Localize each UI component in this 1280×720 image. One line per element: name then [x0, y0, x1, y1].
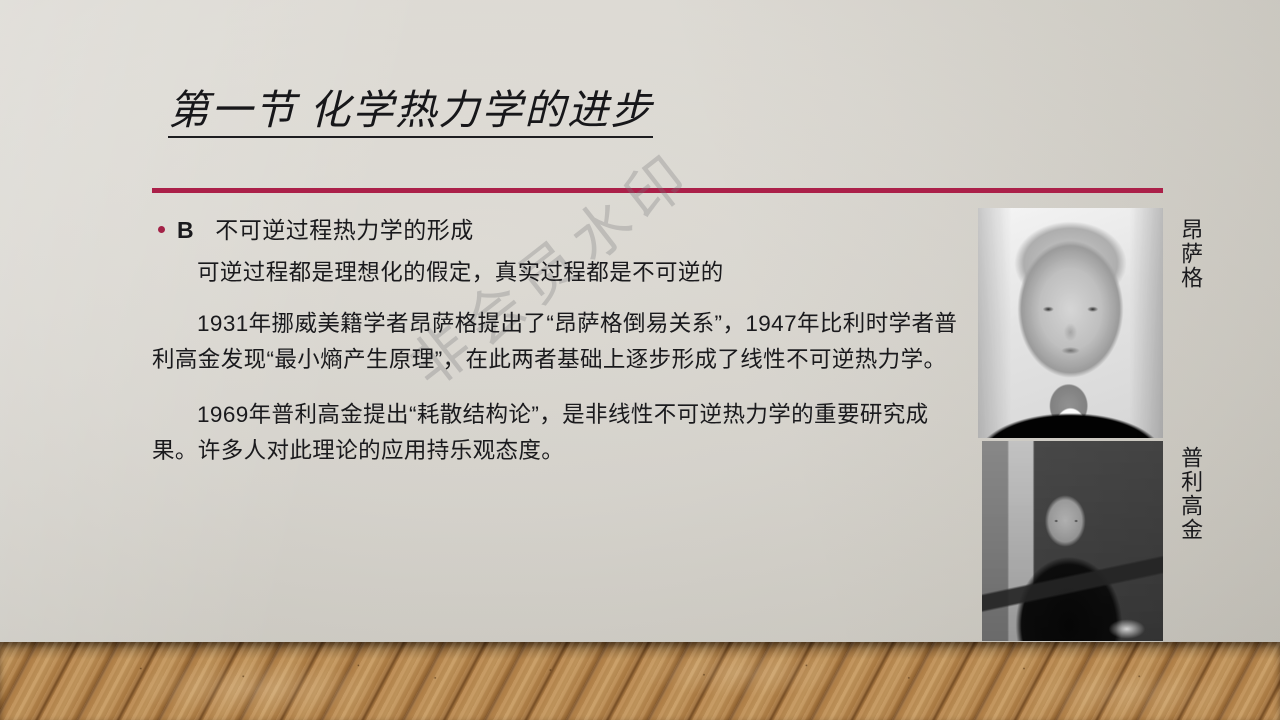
bullet-item: B 不可逆过程热力学的形成 — [158, 214, 967, 247]
accent-divider — [152, 188, 1163, 193]
paragraph-1: 可逆过程都是理想化的假定，真实过程都是不可逆的 — [152, 255, 967, 291]
wood-floor-decoration — [0, 642, 1280, 720]
paragraph-3: 1969年普利高金提出“耗散结构论”，是非线性不可逆热力学的重要研究成果。许多人… — [152, 397, 967, 470]
bullet-item-lead: B — [177, 217, 195, 243]
slide-body: B 不可逆过程热力学的形成 可逆过程都是理想化的假定，真实过程都是不可逆的 19… — [152, 214, 967, 476]
photo-prigogine — [982, 441, 1163, 641]
bullet-item-label: 不可逆过程热力学的形成 — [215, 217, 474, 243]
paragraph-2: 1931年挪威美籍学者昂萨格提出了“昂萨格倒易关系”，1947年比利时学者普利高… — [152, 306, 967, 379]
photo-onsager — [978, 208, 1163, 438]
photo-caption-prigogine: 普利高金 — [1176, 446, 1204, 542]
portrait-image-onsager — [978, 208, 1163, 438]
bullet-dot-icon — [158, 226, 165, 233]
title-block: 第一节 化学热力学的进步 — [168, 86, 1028, 138]
photo-caption-onsager: 昂萨格 — [1176, 218, 1204, 290]
wood-nail-heads — [0, 642, 1280, 720]
portrait-image-prigogine — [982, 441, 1163, 641]
presentation-slide: 第一节 化学热力学的进步 非会员水印 B 不可逆过程热力学的形成 可逆过程都是理… — [0, 0, 1280, 720]
page-title: 第一节 化学热力学的进步 — [168, 86, 653, 138]
bullet-item-text: B 不可逆过程热力学的形成 — [177, 214, 474, 247]
